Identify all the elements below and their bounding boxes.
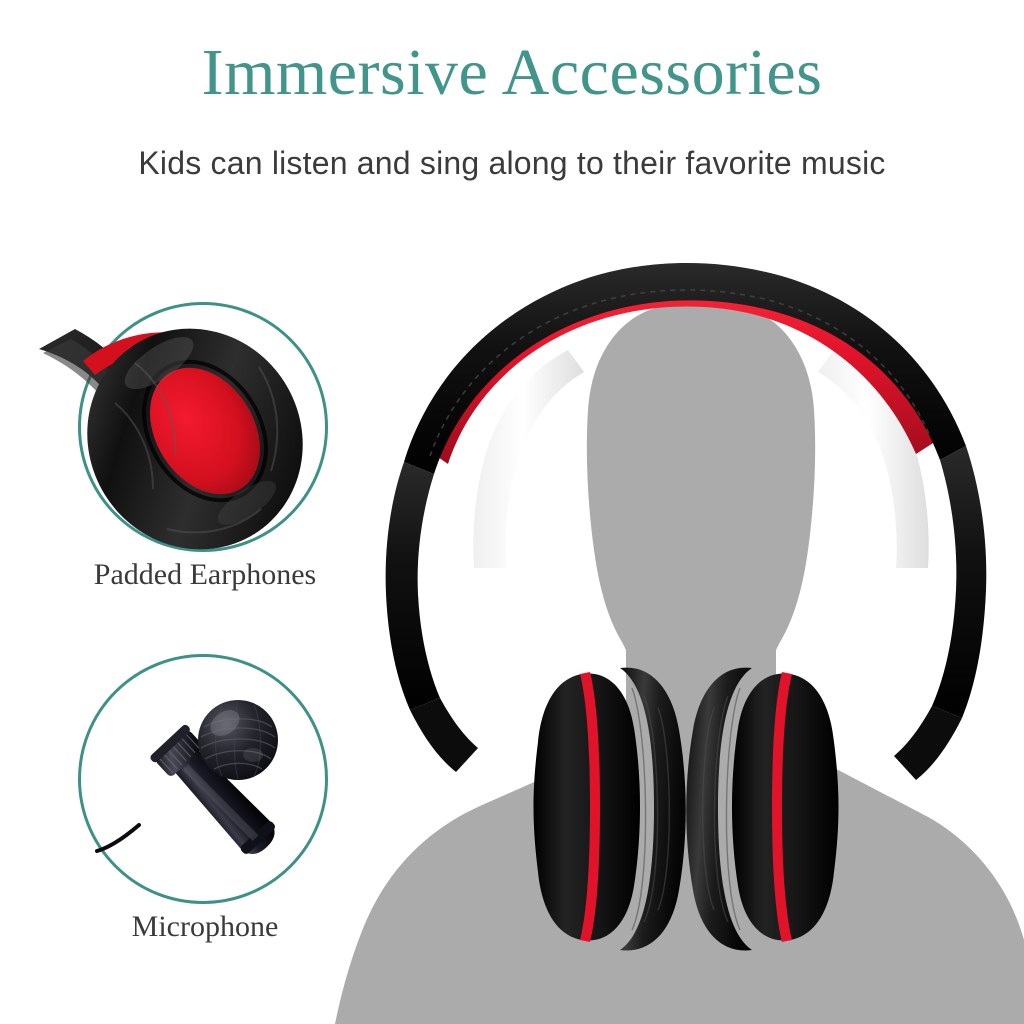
- yoke-hinge-left: [410, 698, 478, 772]
- earcup-padded-ring: [46, 291, 329, 561]
- callout-microphone[interactable]: Microphone: [60, 648, 350, 958]
- earcup-right: [686, 668, 838, 951]
- earcup-red-accent: [83, 332, 294, 541]
- yoke-arm-right: [932, 446, 986, 718]
- product-feature-graphic: Immersive Accessories Kids can listen an…: [0, 0, 1024, 1024]
- earcup-left: [534, 668, 686, 951]
- hero-illustration: [330, 250, 1024, 1024]
- earcup-headband-arm: [39, 329, 165, 505]
- yoke-hinge-right: [894, 706, 962, 780]
- callout-label-padded-earphones: Padded Earphones: [60, 558, 350, 592]
- callout-circle-padded-earphones: [78, 302, 328, 552]
- yoke-arm-left: [386, 462, 440, 710]
- callout-label-microphone: Microphone: [60, 910, 350, 944]
- microphone-handle: [171, 746, 282, 861]
- callout-padded-earphones[interactable]: Padded Earphones: [60, 296, 350, 606]
- microphone-cable: [97, 825, 139, 851]
- padded-earcup-photo: [81, 305, 325, 549]
- microphone-collar: [149, 723, 206, 779]
- callout-circle-microphone: [78, 654, 328, 904]
- page-subtitle: Kids can listen and sing along to their …: [0, 145, 1024, 182]
- microphone-grille: [198, 700, 278, 780]
- handheld-microphone-photo: [81, 657, 325, 901]
- page-title: Immersive Accessories: [0, 38, 1024, 107]
